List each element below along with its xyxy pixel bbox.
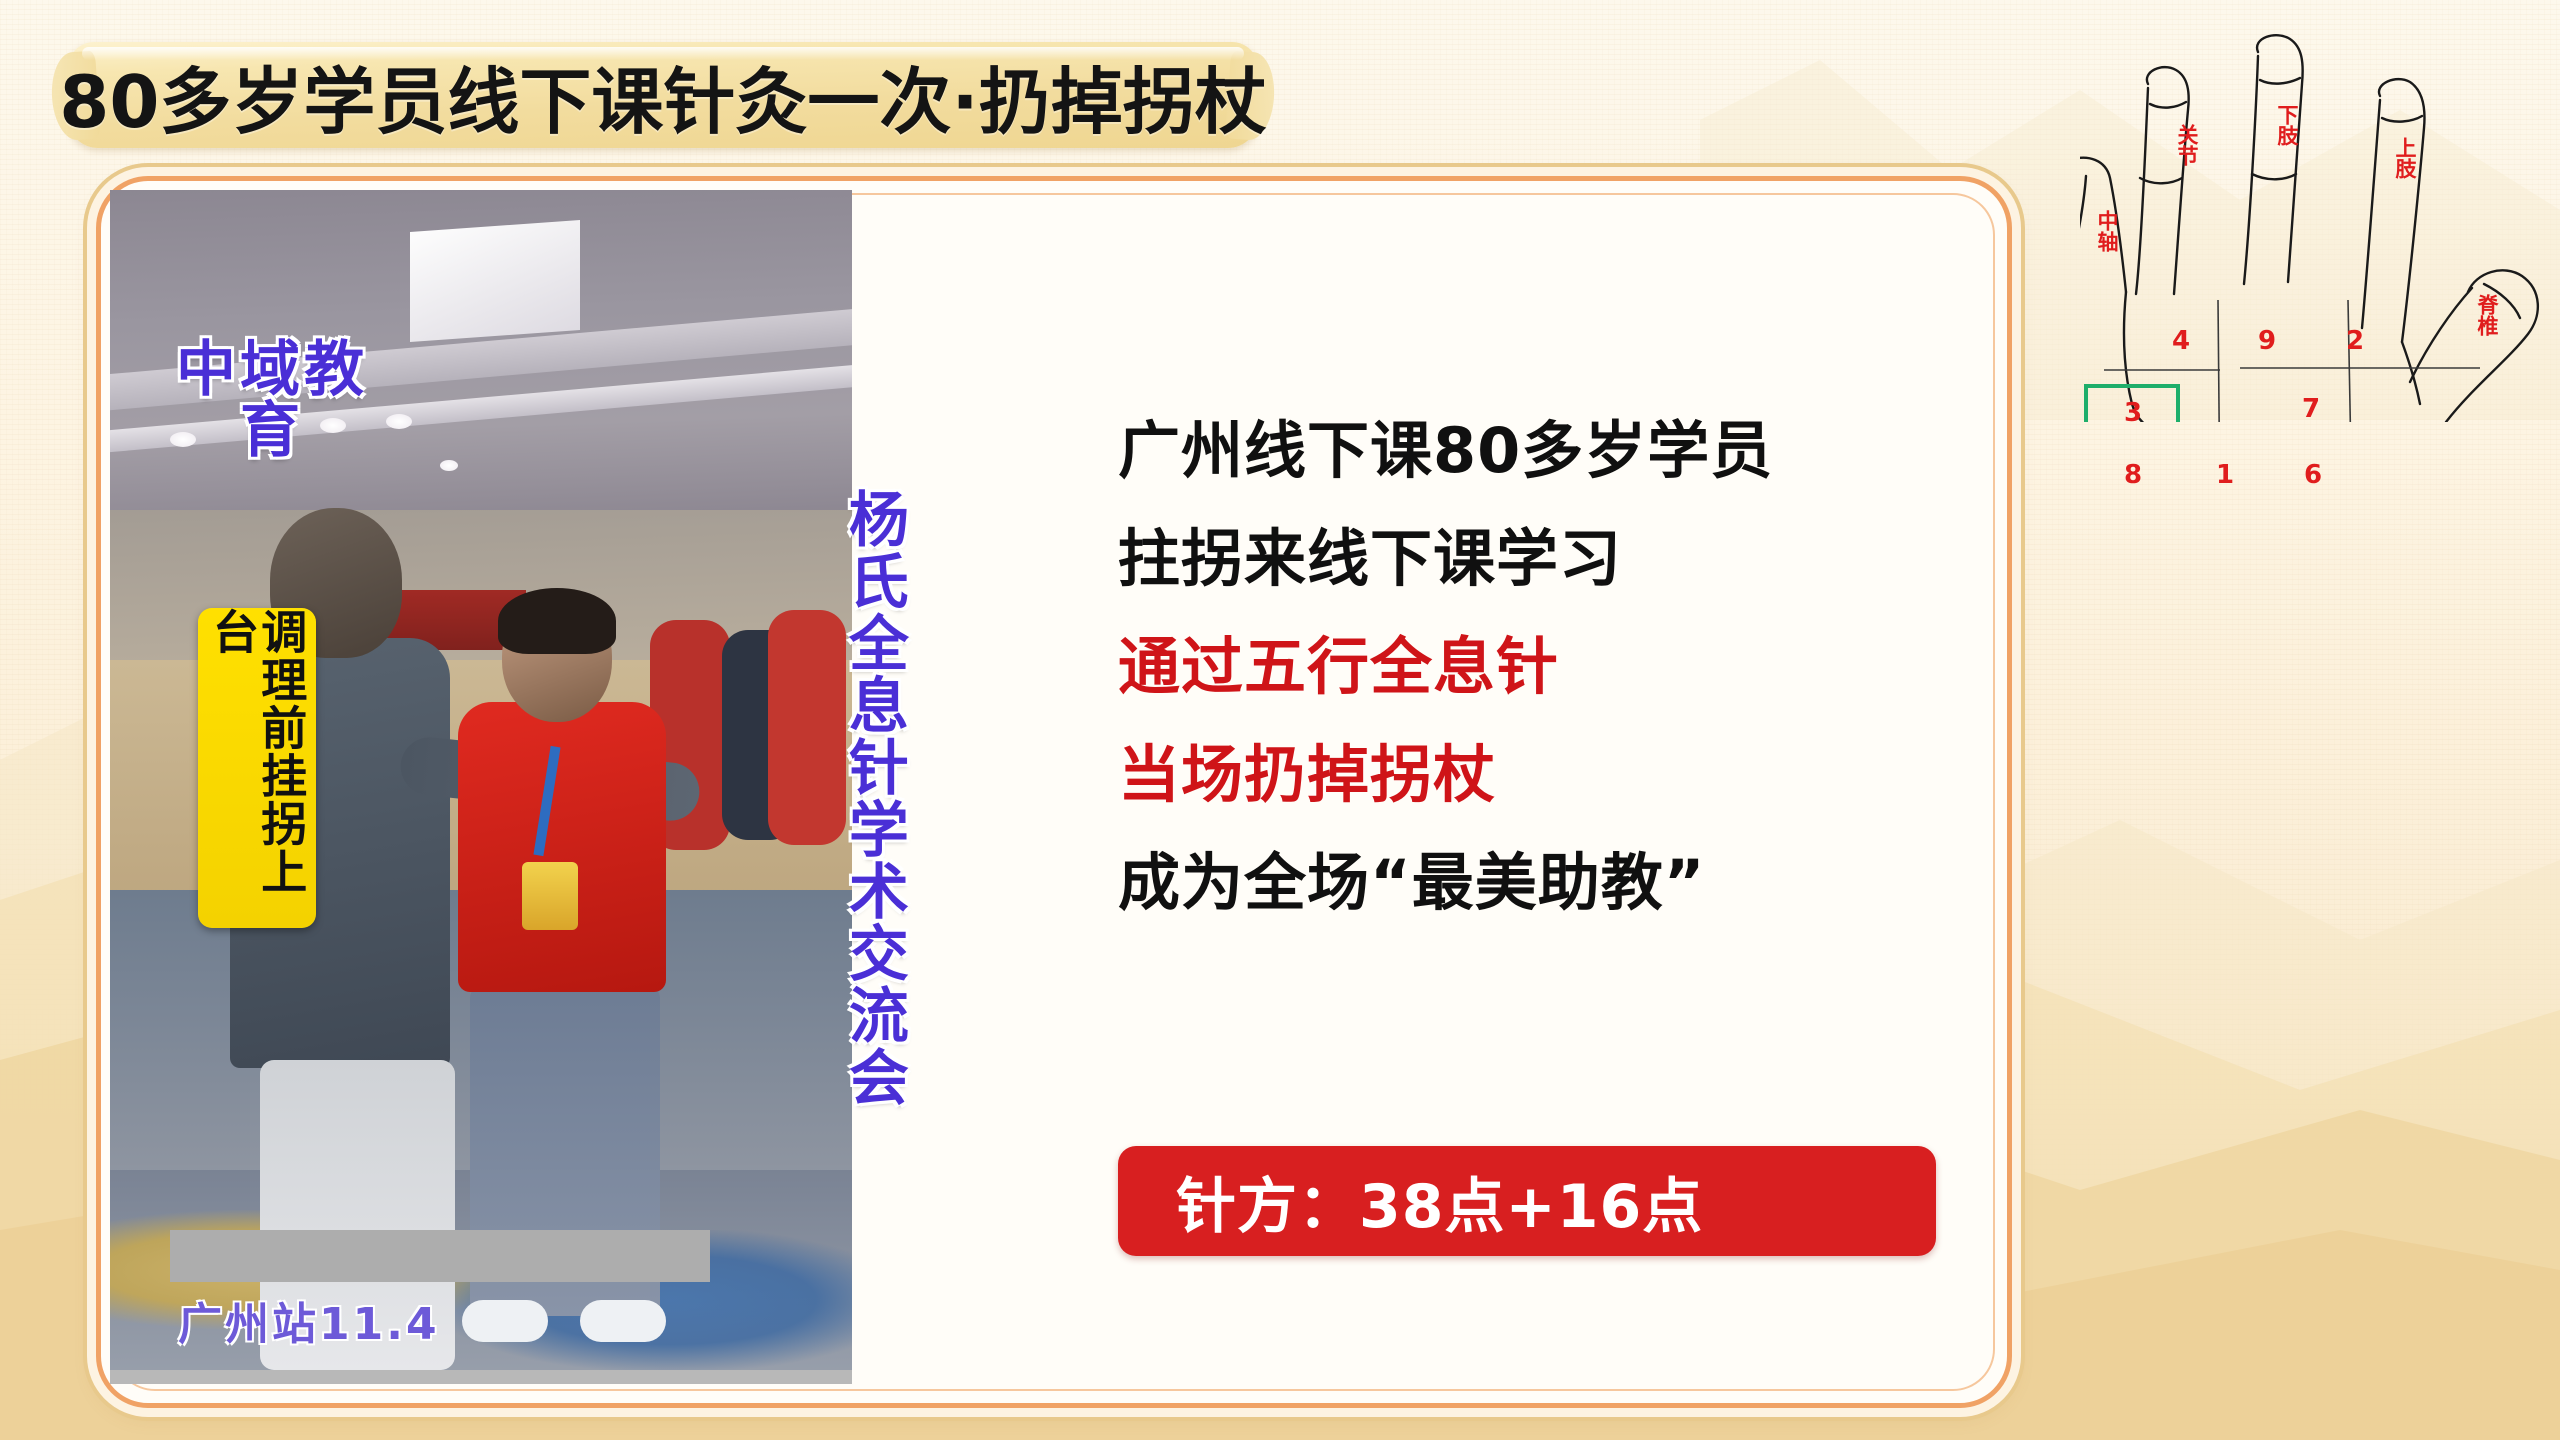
content-line-5: 成为全场“最美助教”: [1118, 852, 1998, 914]
photo-yellow-tag: 调理前挂拐上台: [198, 608, 316, 928]
hand-label-spine: 脊椎: [2476, 294, 2497, 336]
hand-label-upper-limb: 上肢: [2394, 137, 2415, 179]
hand-number-6: 6: [2304, 462, 2322, 488]
photo-bottom-strip: [110, 1370, 852, 1384]
hand-number-4: 4: [2172, 328, 2190, 354]
poster-canvas: 80多岁学员线下课针灸一次·扔掉拐杖: [0, 0, 2560, 1440]
hand-outline-icon: [2080, 0, 2560, 422]
hand-number-8: 8: [2124, 462, 2142, 488]
hand-label-midline: 中轴: [2096, 210, 2117, 252]
photo-yellow-tag-text: 调理前挂拐上台: [209, 608, 306, 928]
page-title: 80多岁学员线下课针灸一次·扔掉拐杖: [68, 42, 1258, 148]
prescription-badge-text: 针方：38点+16点: [1118, 1158, 1703, 1245]
content-text-column: 广州线下课80多岁学员 拄拐来线下课学习 通过五行全息针 当场扔掉拐杖 成为全场…: [1118, 420, 1998, 960]
photo-watermark-brand: 中域教育: [172, 340, 372, 462]
hand-number-9: 9: [2258, 328, 2276, 354]
photo-vertical-title: 杨氏全息针学术交流会: [842, 488, 904, 1168]
hand-label-joint: 关节: [2176, 124, 2197, 166]
photo-redaction-bar: [170, 1230, 710, 1282]
hand-number-2: 2: [2346, 328, 2364, 354]
hand-number-7: 7: [2302, 396, 2320, 422]
prescription-badge: 针方：38点+16点: [1118, 1146, 1936, 1256]
hand-label-lower-limb: 下肢: [2276, 104, 2297, 146]
hand-number-3: 3: [2124, 400, 2142, 426]
hand-number-1: 1: [2216, 462, 2234, 488]
photo-caption: 广州站11.4: [178, 1288, 440, 1352]
content-line-1: 广州线下课80多岁学员: [1118, 420, 1998, 482]
hand-holographic-diagram: 中轴 关节 下肢 上肢 脊椎 4 9 2 3 7 8 1 6: [2080, 0, 2560, 422]
content-line-3: 通过五行全息针: [1118, 636, 1998, 698]
title-banner: 80多岁学员线下课针灸一次·扔掉拐杖: [68, 42, 1258, 148]
content-line-2: 拄拐来线下课学习: [1118, 528, 1998, 590]
content-line-4: 当场扔掉拐杖: [1118, 744, 1998, 806]
